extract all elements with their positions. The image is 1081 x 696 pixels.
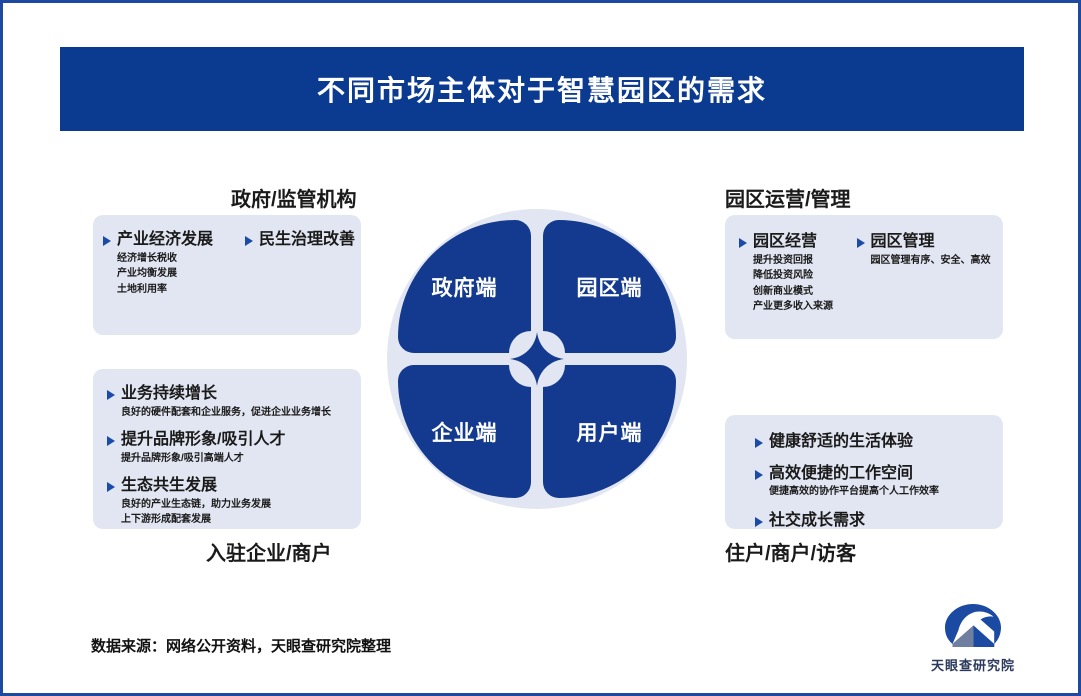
sub-line: 良好的产业生态链，助力业务发展 (121, 497, 361, 513)
bullet-title: 园区经营 (753, 231, 817, 253)
bullet-title: 业务持续增长 (121, 383, 217, 405)
triangle-bullet-icon (755, 517, 763, 527)
four-point-star-icon (510, 332, 564, 386)
page-title: 不同市场主体对于智慧园区的需求 (317, 69, 767, 109)
bullet-row: 提升品牌形象/吸引人才 (107, 429, 361, 451)
bullet-group-industry-economy: 产业经济发展 经济增长税收 产业均衡发展 土地利用率 (103, 229, 235, 297)
sub-list: 便捷高效的协作平台提高个人工作效率 (769, 484, 1003, 500)
card-park-operation: 园区经营 提升投资回报 降低投资风险 创新商业模式 产业更多收入来源 园区管理 … (725, 215, 1003, 339)
bullet-row: 社交成长需求 (755, 510, 1003, 532)
center-quadrant-diagram: 政府端 园区端 企业端 用户端 (387, 209, 687, 509)
bullet-row: 生态共生发展 (107, 475, 361, 497)
sub-line: 良好的硬件配套和企业服务，促进企业业务增长 (121, 405, 361, 421)
logo-text: 天眼查研究院 (931, 655, 1015, 674)
bullet-title: 高效便捷的工作空间 (769, 463, 913, 485)
bullet-group-efficient-workspace: 高效便捷的工作空间 便捷高效的协作平台提高个人工作效率 (755, 463, 1003, 500)
data-source-text: 数据来源：网络公开资料，天眼查研究院整理 (91, 635, 391, 656)
bullet-title: 民生治理改善 (259, 229, 355, 251)
bullet-title: 提升品牌形象/吸引人才 (121, 429, 285, 451)
title-bar: 不同市场主体对于智慧园区的需求 (60, 47, 1024, 131)
bullet-group-ecosystem: 生态共生发展 良好的产业生态链，助力业务发展 上下游形成配套发展 (107, 475, 361, 528)
sub-list: 经济增长税收 产业均衡发展 土地利用率 (117, 251, 235, 298)
sub-line: 产业均衡发展 (117, 266, 235, 282)
sub-line: 园区管理有序、安全、高效 (871, 253, 1003, 269)
triangle-bullet-icon (107, 436, 115, 446)
bullet-group-park-management: 园区管理 园区管理有序、安全、高效 (857, 231, 1003, 315)
card-resident: 健康舒适的生活体验 高效便捷的工作空间 便捷高效的协作平台提高个人工作效率 社交… (725, 415, 1003, 529)
bullet-group-livelihood-governance: 民生治理改善 (245, 229, 361, 297)
triangle-bullet-icon (107, 482, 115, 492)
sub-line: 提升品牌形象/吸引高端人才 (121, 451, 361, 467)
bullet-title: 健康舒适的生活体验 (769, 431, 913, 453)
card-company: 业务持续增长 良好的硬件配套和企业服务，促进企业业务增长 提升品牌形象/吸引人才… (93, 369, 361, 529)
bullet-group-social-growth: 社交成长需求 (755, 510, 1003, 532)
triangle-bullet-icon (755, 470, 763, 480)
sub-line: 降低投资风险 (753, 268, 843, 284)
bullet-group-business-growth: 业务持续增长 良好的硬件配套和企业服务，促进企业业务增长 (107, 383, 361, 420)
sub-list: 良好的产业生态链，助力业务发展 上下游形成配套发展 (121, 497, 361, 528)
quadrant-label: 政府端 (432, 272, 498, 302)
triangle-bullet-icon (739, 238, 747, 248)
sub-line: 经济增长税收 (117, 251, 235, 267)
bullet-row: 园区经营 (739, 231, 843, 253)
sub-line: 土地利用率 (117, 282, 235, 298)
bullet-group-park-business: 园区经营 提升投资回报 降低投资风险 创新商业模式 产业更多收入来源 (739, 231, 843, 315)
bullet-group-healthy-living: 健康舒适的生活体验 (755, 431, 1003, 453)
sub-list: 良好的硬件配套和企业服务，促进企业业务增长 (121, 405, 361, 421)
logo-block: 天眼查研究院 (914, 603, 1032, 681)
bullet-title: 生态共生发展 (121, 475, 217, 497)
sub-list: 提升投资回报 降低投资风险 创新商业模式 产业更多收入来源 (753, 253, 843, 315)
triangle-bullet-icon (103, 236, 111, 246)
bullet-title: 产业经济发展 (117, 229, 213, 251)
bullet-row: 园区管理 (857, 231, 1003, 253)
triangle-bullet-icon (755, 438, 763, 448)
bullet-row: 产业经济发展 (103, 229, 235, 251)
section-label-park-operation: 园区运营/管理 (725, 183, 851, 212)
card-government: 产业经济发展 经济增长税收 产业均衡发展 土地利用率 民生治理改善 (93, 215, 361, 335)
quadrant-label: 园区端 (577, 272, 643, 302)
triangle-bullet-icon (245, 236, 253, 246)
bullet-title: 社交成长需求 (769, 510, 865, 532)
triangle-bullet-icon (857, 238, 865, 248)
eagle-eye-logo-icon (940, 603, 1006, 653)
bullet-row: 民生治理改善 (245, 229, 361, 251)
section-label-government: 政府/监管机构 (231, 183, 357, 212)
bullet-row: 业务持续增长 (107, 383, 361, 405)
sub-line: 上下游形成配套发展 (121, 512, 361, 528)
sub-line: 提升投资回报 (753, 253, 843, 269)
section-label-company: 入驻企业/商户 (206, 537, 332, 566)
sub-line: 产业更多收入来源 (753, 299, 843, 315)
sub-list: 园区管理有序、安全、高效 (871, 253, 1003, 269)
triangle-bullet-icon (107, 390, 115, 400)
quadrant-label: 用户端 (577, 417, 643, 447)
section-label-resident: 住户/商户/访客 (725, 537, 856, 566)
bullet-row: 高效便捷的工作空间 (755, 463, 1003, 485)
quadrant-label: 企业端 (432, 417, 498, 447)
bullet-row: 健康舒适的生活体验 (755, 431, 1003, 453)
bullet-title: 园区管理 (871, 231, 935, 253)
sub-line: 便捷高效的协作平台提高个人工作效率 (769, 484, 1003, 500)
infographic-page: 不同市场主体对于智慧园区的需求 政府/监管机构 园区运营/管理 入驻企业/商户 … (0, 0, 1081, 696)
sub-list: 提升品牌形象/吸引高端人才 (121, 451, 361, 467)
sub-line: 创新商业模式 (753, 284, 843, 300)
bullet-group-brand-talent: 提升品牌形象/吸引人才 提升品牌形象/吸引高端人才 (107, 429, 361, 466)
